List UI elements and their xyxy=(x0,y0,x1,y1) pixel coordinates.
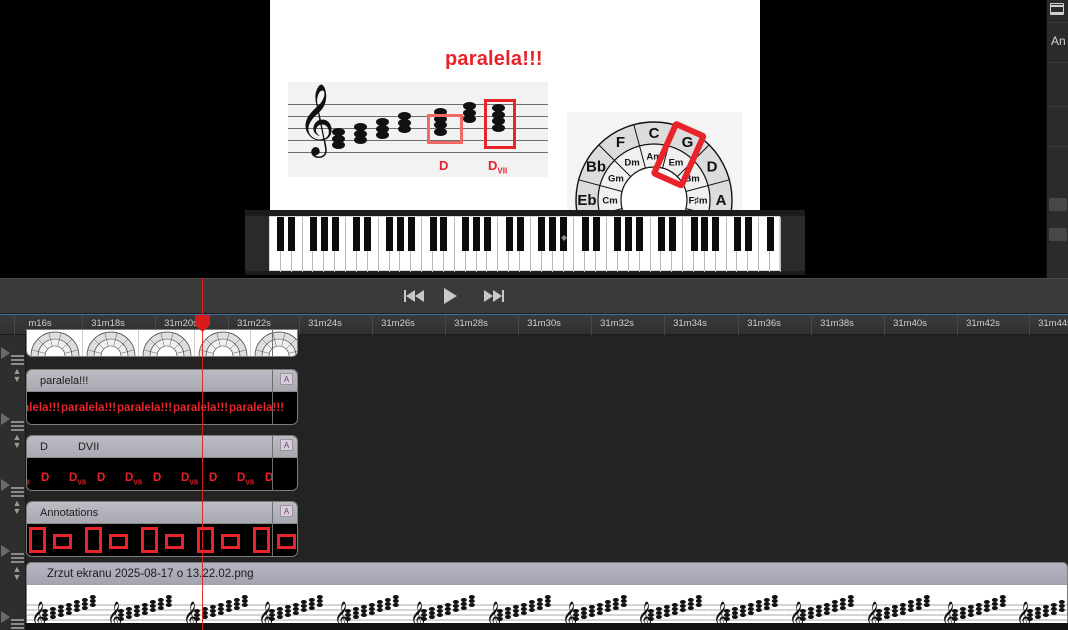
clip-annotations-title: Annotations xyxy=(40,507,98,519)
ruler-tickline xyxy=(884,315,885,336)
ruler-tickline xyxy=(518,315,519,336)
ruler-tick-label: 31m38s xyxy=(820,318,854,329)
piano-black-key[interactable] xyxy=(310,217,317,251)
filmstrip-frame xyxy=(139,330,195,356)
piano-black-key[interactable] xyxy=(701,217,708,251)
track-disclosure-triangle-icon[interactable] xyxy=(1,347,10,359)
piano-black-key[interactable] xyxy=(462,217,469,251)
track-order-chevrons-icon[interactable]: ▲▼ xyxy=(11,565,23,581)
piano-black-key[interactable] xyxy=(397,217,404,251)
annotation-rect-wide xyxy=(221,534,240,549)
annotation-rect-tall xyxy=(141,527,158,553)
piano-black-key[interactable] xyxy=(538,217,545,251)
chord-highlight-dvii xyxy=(484,99,516,149)
playhead-transport xyxy=(202,278,203,314)
cof-inner-Gm: Gm xyxy=(608,174,624,185)
clip-text-instance: paralela!!! xyxy=(117,402,172,414)
clip-cof[interactable] xyxy=(26,329,298,357)
cof-inner-Em: Em xyxy=(669,157,684,168)
transport-bar: 00:31:21 10 ‹ xyxy=(0,278,1068,314)
track-grip-handle[interactable] xyxy=(11,355,24,365)
transport-buttons xyxy=(404,287,504,305)
clip-chord-d: D xyxy=(209,472,217,484)
ruler-tickline xyxy=(811,315,812,336)
clip-paralela[interactable]: paralela!!! paralela!!!paralela!!!parale… xyxy=(26,369,298,425)
circle-of-fifths: CGDAE♭BF#C#AbEbBbF AmEmBmF♯mC♯mG♯mD♯mB♭m… xyxy=(567,112,742,217)
track-disclosure-triangle-icon[interactable] xyxy=(1,611,10,623)
music-staff: 𝄞 D DVII xyxy=(288,82,548,177)
ruler-tick-label: 31m24s xyxy=(308,318,342,329)
ruler-tickline xyxy=(299,315,300,336)
track-order-chevrons-icon[interactable]: ▲▼ xyxy=(11,499,23,515)
clip-chord-dvii: DVII xyxy=(27,472,30,486)
clip-annotations-header: Annotations xyxy=(27,502,297,524)
clip-chord-dvii: DVII xyxy=(181,472,198,486)
piano-keyboard[interactable]: ◆ xyxy=(245,210,805,275)
ruler-tickline xyxy=(957,315,958,336)
ruler-tick-label: m16s xyxy=(28,318,51,329)
piano-black-key[interactable] xyxy=(593,217,600,251)
track-circle-of-fifths[interactable] xyxy=(26,335,298,357)
piano-cursor-icon: ◆ xyxy=(561,234,568,242)
skip-forward-button[interactable] xyxy=(484,287,504,305)
annotation-rect-wide xyxy=(53,534,72,549)
cof-inner-Dm: Dm xyxy=(624,157,639,168)
annotation-rect-tall xyxy=(253,527,270,553)
app-root: paralela!!! 𝄞 D DVII xyxy=(0,0,1068,630)
timeline: m16s31m18s31m20s31m22s31m24s31m26s31m28s… xyxy=(0,314,1068,630)
ruler-tick-label: 31m26s xyxy=(381,318,415,329)
circle-of-fifths-svg: CGDAE♭BF#C#AbEbBbF AmEmBmF♯mC♯mG♯mD♯mB♭m… xyxy=(567,112,742,217)
ruler-tick-label: 31m36s xyxy=(747,318,781,329)
track-order-chevrons-icon[interactable]: ▲▼ xyxy=(11,367,23,383)
ruler-tick-label: 31m22s xyxy=(237,318,271,329)
ruler-tick-label: 31m28s xyxy=(454,318,488,329)
viewer-letterbox-right xyxy=(782,0,1038,278)
staff-chord-3 xyxy=(376,118,389,138)
piano-edge-right xyxy=(780,216,805,271)
piano-black-key[interactable] xyxy=(484,217,491,251)
ruler-tick-label: 31m34s xyxy=(673,318,707,329)
clip-paralela-header: paralela!!! xyxy=(27,370,297,392)
piano-black-key[interactable] xyxy=(625,217,632,251)
clip-chords-title-left: D xyxy=(40,441,48,453)
track-disclosure-triangle-icon[interactable] xyxy=(1,413,10,425)
inspector-button-1[interactable] xyxy=(1049,198,1067,211)
piano-black-key[interactable] xyxy=(288,217,295,251)
track-screenshot-score[interactable]: Zrzut ekranu 2025-08-17 o 13.22.02.png 𝄞… xyxy=(26,562,1068,630)
clip-text-instance: paralela!!! xyxy=(173,402,228,414)
film-clip-icon xyxy=(1050,3,1064,15)
cof-outer-Bb: Bb xyxy=(586,159,606,176)
filmstrip-frame xyxy=(83,330,139,356)
track-grip-handle[interactable] xyxy=(11,487,24,497)
clip-annotations-badge: A xyxy=(280,505,293,517)
cof-outer-Eb: Eb xyxy=(577,192,596,209)
clip-chord-dvii: DVII xyxy=(237,472,254,486)
viewer-letterbox-left xyxy=(0,0,270,278)
track-order-chevrons-icon[interactable]: ▲▼ xyxy=(11,433,23,449)
filmstrip-frame xyxy=(251,330,298,356)
piano-black-key[interactable] xyxy=(614,217,621,251)
staff-chord-4 xyxy=(398,112,411,132)
score-clip-header: Zrzut ekranu 2025-08-17 o 13.22.02.png xyxy=(27,563,1067,585)
ruler-tickline xyxy=(664,315,665,336)
track-disclosure-triangle-icon[interactable] xyxy=(1,479,10,491)
skip-back-button[interactable] xyxy=(404,287,424,305)
piano-black-key[interactable] xyxy=(767,217,774,251)
ruler-tick-label: 31m18s xyxy=(91,318,125,329)
piano-black-key[interactable] xyxy=(506,217,513,251)
staff-chord-6 xyxy=(463,102,476,122)
chord-highlight-d xyxy=(427,114,463,144)
ruler-tick-label: 31m44s xyxy=(1038,318,1068,329)
ruler-tick-label: 31m40s xyxy=(893,318,927,329)
clip-chords-title-right: DVII xyxy=(78,441,99,453)
annotation-rect-tall xyxy=(29,527,46,553)
filmstrip-frame xyxy=(195,330,251,356)
timeline-tracks: ▲▼▲▼▲▼▲▼ paralela!!! paralela!!!paralela… xyxy=(0,335,1068,630)
clip-paralela-title: paralela!!! xyxy=(40,375,88,387)
piano-black-key[interactable] xyxy=(658,217,665,251)
piano-black-key[interactable] xyxy=(473,217,480,251)
piano-black-key[interactable] xyxy=(408,217,415,251)
piano-black-key[interactable] xyxy=(277,217,284,251)
play-button[interactable] xyxy=(444,287,464,305)
inspector-label: An xyxy=(1051,34,1066,48)
clip-annotations[interactable]: Annotations A xyxy=(26,501,298,557)
track-grip-handle[interactable] xyxy=(11,421,24,431)
piano-black-key[interactable] xyxy=(549,217,556,251)
annotation-rect-wide xyxy=(109,534,128,549)
piano-black-key[interactable] xyxy=(712,217,719,251)
piano-black-key[interactable] xyxy=(332,217,339,251)
cof-outer-A: A xyxy=(716,192,727,209)
clip-chord-dvii: DVII xyxy=(69,472,86,486)
piano-black-key[interactable] xyxy=(745,217,752,251)
ruler-tickline xyxy=(372,315,373,336)
piano-black-key[interactable] xyxy=(353,217,360,251)
piano-black-key[interactable] xyxy=(386,217,393,251)
track-grip-handle[interactable] xyxy=(11,553,24,563)
clip-chord-d: D xyxy=(97,472,105,484)
track-gutter: ▲▼▲▼▲▼▲▼ xyxy=(0,335,26,630)
inspector-button-2[interactable] xyxy=(1049,228,1067,241)
chord-label-d: D xyxy=(439,158,448,173)
cof-outer-F: F xyxy=(616,134,625,151)
playhead-line[interactable] xyxy=(202,314,203,630)
ruler-tick-label: 31m42s xyxy=(966,318,1000,329)
track-disclosure-triangle-icon[interactable] xyxy=(1,545,10,557)
score-clip-title: Zrzut ekranu 2025-08-17 o 13.22.02.png xyxy=(47,568,254,580)
clip-chords-header: D DVII xyxy=(27,436,297,458)
clip-text-instance: paralela!!! xyxy=(61,402,116,414)
ruler-tick-label: 31m32s xyxy=(600,318,634,329)
piano-black-key[interactable] xyxy=(669,217,676,251)
clip-chords-badge: A xyxy=(280,439,293,451)
piano-black-key[interactable] xyxy=(440,217,447,251)
cof-outer-D: D xyxy=(707,159,718,176)
viewer-area: paralela!!! 𝄞 D DVII xyxy=(0,0,1068,278)
ruler-tickline xyxy=(591,315,592,336)
slide-title: paralela!!! xyxy=(445,48,543,71)
piano-black-key[interactable] xyxy=(734,217,741,251)
cof-filmstrip xyxy=(27,330,297,356)
ruler-tick-label: 31m20s xyxy=(164,318,198,329)
track-grip-handle[interactable] xyxy=(11,619,24,629)
ruler-tickline xyxy=(14,315,15,336)
ruler-tickline xyxy=(445,315,446,336)
piano-keys[interactable] xyxy=(269,216,780,271)
cof-outer-G: G xyxy=(682,134,694,151)
piano-black-key[interactable] xyxy=(691,217,698,251)
piano-black-key[interactable] xyxy=(582,217,589,251)
clip-chords-body: DVIIDDVIIDDVIIDDVIIDDVIID xyxy=(27,458,297,490)
clip-paralela-badge: A xyxy=(280,373,293,385)
filmstrip-frame xyxy=(27,330,83,356)
annotation-rect-wide xyxy=(277,534,296,549)
cof-inner-F♯m: F♯m xyxy=(689,196,708,207)
clip-paralela-body: paralela!!!paralela!!!paralela!!!paralel… xyxy=(27,392,297,424)
piano-black-key[interactable] xyxy=(636,217,643,251)
clip-chord-d: D xyxy=(153,472,161,484)
chord-label-dvii-letter: D xyxy=(488,158,497,173)
staff-chord-1 xyxy=(332,128,345,148)
clip-text-instance: paralela!!! xyxy=(27,402,60,414)
clip-chords[interactable]: D DVII DVIIDDVIIDDVIIDDVIIDDVIID A xyxy=(26,435,298,491)
piano-black-key[interactable] xyxy=(430,217,437,251)
clip-chord-dvii: DVII xyxy=(125,472,142,486)
clip-text-instance: paralela!!! xyxy=(229,402,284,414)
staff-chord-2 xyxy=(354,123,367,143)
annotation-rect-wide xyxy=(165,534,184,549)
piano-black-key[interactable] xyxy=(321,217,328,251)
inspector-panel[interactable]: An xyxy=(1046,0,1068,278)
piano-edge-left xyxy=(245,216,269,271)
track-gap xyxy=(26,623,1068,630)
annotation-rect-tall xyxy=(85,527,102,553)
annotation-rect-tall xyxy=(197,527,214,553)
cof-inner-Cm: Cm xyxy=(602,196,617,207)
clip-annotations-body xyxy=(27,524,297,556)
clip-chord-d: D xyxy=(41,472,49,484)
ruler-tickline xyxy=(1029,315,1030,336)
treble-clef-icon: 𝄞 xyxy=(298,88,335,150)
piano-black-key[interactable] xyxy=(517,217,524,251)
piano-black-key[interactable] xyxy=(364,217,371,251)
ruler-tickline xyxy=(738,315,739,336)
chord-label-dvii: DVII xyxy=(488,158,507,176)
ruler-tick-label: 31m30s xyxy=(527,318,561,329)
cof-outer-C: C xyxy=(649,125,660,142)
chord-label-dvii-sub: VII xyxy=(497,167,507,176)
